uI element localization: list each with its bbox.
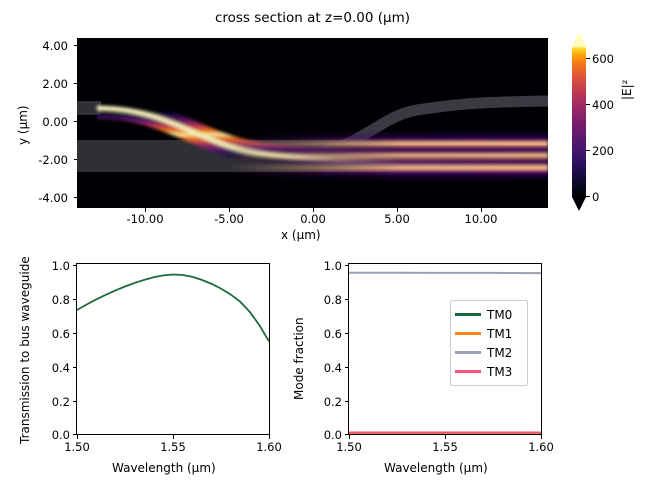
top-xtick-0: -10.00 [105,212,185,226]
tickmark [481,208,482,212]
tickmark [74,83,78,84]
bl-xtick-0: 1.50 [47,440,107,454]
tickmark [445,435,446,439]
tickmark [541,435,542,439]
legend-swatch-tm0 [455,313,481,315]
colorbar-tick-600: 600 [592,52,614,66]
page-title: cross section at z=0.00 (µm) [77,10,548,26]
colorbar-label: |E|² [620,80,634,100]
bl-xtick-1: 1.55 [143,440,203,454]
tickmark [74,45,78,46]
top-xtick-4: 10.00 [441,212,521,226]
tickmark [73,299,77,300]
bl-ylabel: Transmission to bus waveguide [18,256,32,444]
tickmark [73,265,77,266]
br-xlabel: Wavelength (μm) [384,461,488,475]
tickmark [269,435,270,439]
tickmark [397,208,398,212]
top-ytick-4: -4.00 [20,191,68,205]
colorbar-extend-top [572,32,586,46]
tickmark [74,197,78,198]
legend-swatch-tm3 [455,370,481,372]
top-ylabel: y (µm) [16,105,30,145]
tickmark [173,435,174,439]
colorbar-tick-400: 400 [592,98,614,112]
top-xtick-2: 0.00 [273,212,353,226]
tickmark [73,333,77,334]
tickmark [73,367,77,368]
br-ylabel: Mode fraction [292,317,306,400]
tickmark [345,333,349,334]
legend-label-tm1: TM1 [487,328,512,340]
transmission-plot [76,263,270,435]
top-ytick-1: 2.00 [20,77,68,91]
legend-item-tm1[interactable]: TM1 [455,324,522,343]
tickmark [345,401,349,402]
legend-item-tm2[interactable]: TM2 [455,343,522,362]
br-xtick-1: 1.55 [415,440,475,454]
tickmark [74,159,78,160]
legend-label-tm3: TM3 [487,366,512,378]
transmission-curve [77,264,269,434]
tickmark [586,58,590,59]
mode-fraction-legend: TM0 TM1 TM2 TM3 [450,300,528,386]
top-xlabel: x (µm) [281,228,321,242]
legend-item-tm3[interactable]: TM3 [455,362,522,381]
tickmark [586,150,590,151]
field-intensity-overlay [77,38,548,208]
tickmark [345,299,349,300]
legend-label-tm0: TM0 [487,309,512,321]
br-ytick-0: 1.0 [297,259,342,273]
top-ytick-0: 4.00 [20,39,68,53]
bl-xlabel: Wavelength (μm) [112,461,216,475]
tickmark [586,196,590,197]
tickmark [74,121,78,122]
tickmark [345,367,349,368]
tickmark [73,434,77,435]
tickmark [229,208,230,212]
br-xtick-0: 1.50 [319,440,379,454]
colorbar-tick-0: 0 [592,190,599,204]
tickmark [586,104,590,105]
tickmark [73,401,77,402]
legend-item-tm0[interactable]: TM0 [455,305,522,324]
colorbar-extend-bottom [572,197,586,211]
tickmark [145,208,146,212]
bl-xtick-2: 1.60 [239,440,299,454]
colorbar-tick-200: 200 [592,144,614,158]
top-xtick-1: -5.00 [189,212,269,226]
legend-swatch-tm1 [455,332,481,334]
top-ytick-3: -2.00 [20,153,68,167]
tickmark [345,434,349,435]
tickmark [313,208,314,212]
top-xtick-3: 5.00 [357,212,437,226]
legend-label-tm2: TM2 [487,347,512,359]
field-cross-section-heatmap [77,38,548,208]
legend-swatch-tm2 [455,351,481,353]
tickmark [345,265,349,266]
br-ytick-1: 0.8 [297,293,342,307]
br-xtick-2: 1.60 [511,440,571,454]
tickmark [77,435,78,439]
tickmark [349,435,350,439]
figure-canvas: cross section at z=0.00 (µm) [0,0,650,491]
colorbar [572,46,586,197]
